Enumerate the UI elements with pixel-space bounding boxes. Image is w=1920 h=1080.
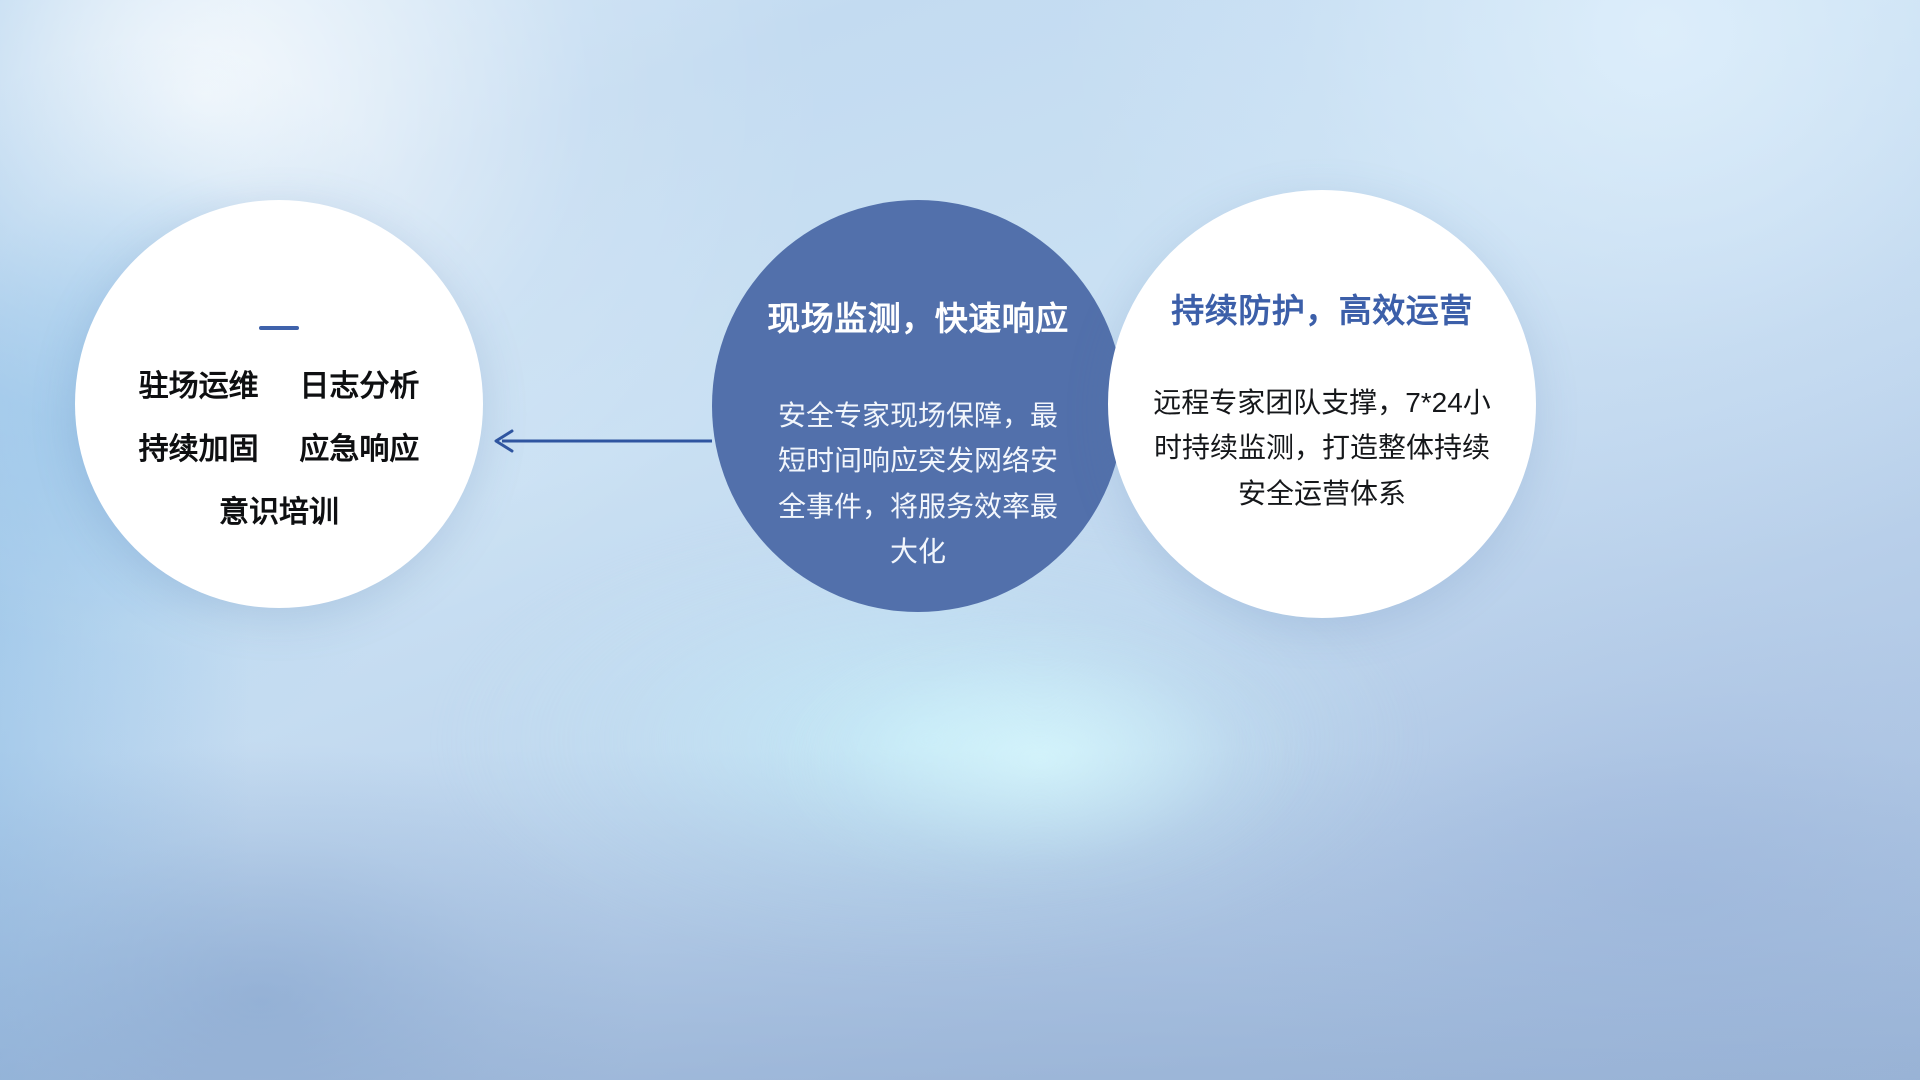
onsite-monitoring-body: 安全专家现场保障，最短时间响应突发网络安全事件，将服务效率最大化 (768, 393, 1068, 574)
capability-label: 意识培训 (219, 496, 339, 529)
list-item: 意识培训 (139, 498, 420, 528)
connector-arrow (486, 420, 712, 462)
continuous-protection-circle[interactable]: 持续防护，高效运营 远程专家团队支撑，7*24小时持续监测，打造整体持续安全运营… (1108, 190, 1536, 618)
list-item: 驻场运维 日志分析 (139, 372, 420, 402)
onsite-monitoring-circle[interactable]: 现场监测，快速响应 安全专家现场保障，最短时间响应突发网络安全事件，将服务效率最… (712, 200, 1124, 612)
slide-canvas: 驻场运维 日志分析 持续加固 应急响应 意识培训 现场监测，快速响应 安全专家现… (0, 0, 1920, 1080)
onsite-monitoring-title: 现场监测，快速响应 (767, 292, 1069, 340)
list-item: 持续加固 应急响应 (139, 435, 420, 465)
capability-label: 持续加固 (139, 433, 259, 466)
capabilities-circle[interactable]: 驻场运维 日志分析 持续加固 应急响应 意识培训 (75, 200, 483, 608)
capability-label: 应急响应 (299, 433, 419, 466)
continuous-protection-title: 持续防护，高效运营 (1171, 284, 1473, 332)
capability-label: 日志分析 (299, 370, 419, 403)
continuous-protection-body: 远程专家团队支撑，7*24小时持续监测，打造整体持续安全运营体系 (1147, 380, 1497, 516)
capabilities-list: 驻场运维 日志分析 持续加固 应急响应 意识培训 (139, 372, 420, 528)
capability-label: 驻场运维 (139, 370, 259, 403)
arrow-left-icon (496, 431, 712, 451)
divider-dash (259, 326, 299, 330)
